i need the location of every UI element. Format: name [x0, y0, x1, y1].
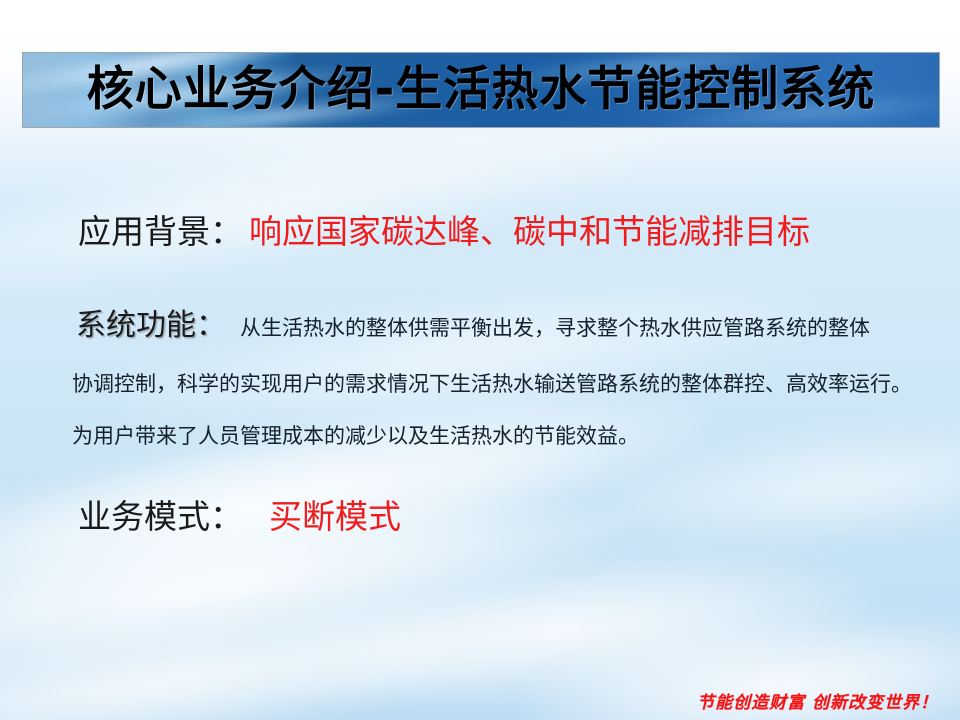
section-application-background: 应用背景：响应国家碳达峰、碳中和节能减排目标 — [78, 205, 810, 253]
business-model-value: 买断模式 — [269, 497, 401, 536]
system-function-value: 从生活热水的整体供需平衡出发，寻求整个热水供应管路系统的整体 — [240, 316, 870, 340]
application-background-label: 应用背景： — [78, 212, 243, 251]
section-business-model: 业务模式：买断模式 — [78, 490, 401, 538]
system-function-body-line-3: 为用户带来了人员管理成本的减少以及生活热水的节能效益。 — [72, 420, 639, 450]
system-function-body-line-2: 协调控制，科学的实现用户的需求情况下生活热水输送管路系统的整体群控、高效率运行。 — [72, 368, 912, 398]
business-model-label: 业务模式： — [78, 497, 243, 536]
application-background-value: 响应国家碳达峰、碳中和节能减排目标 — [249, 212, 810, 251]
slide-content: 应用背景：响应国家碳达峰、碳中和节能减排目标 系统功能：从生活热水的整体供需平衡… — [0, 0, 960, 720]
system-function-label: 系统功能： — [76, 308, 226, 343]
slide-canvas: 核心业务介绍-生活热水节能控制系统 应用背景：响应国家碳达峰、碳中和节能减排目标… — [0, 0, 960, 720]
section-system-function: 系统功能：从生活热水的整体供需平衡出发，寻求整个热水供应管路系统的整体 — [76, 300, 870, 344]
footer-slogan: 节能创造财富 创新改变世界！ — [697, 688, 938, 713]
